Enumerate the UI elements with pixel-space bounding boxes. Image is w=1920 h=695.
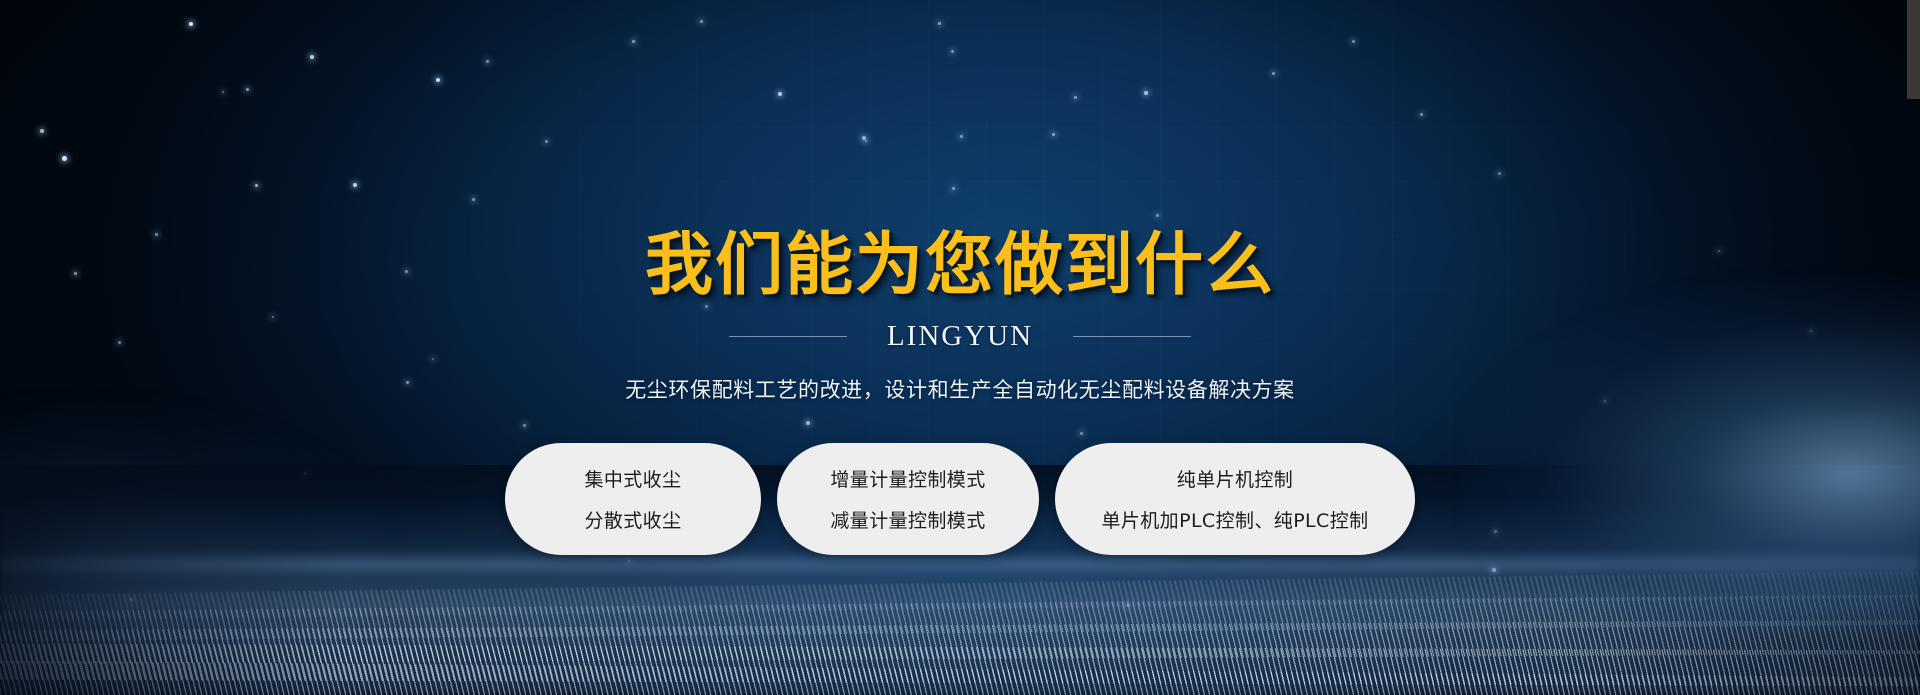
- scrollbar-track[interactable]: [1907, 0, 1920, 695]
- divider-line-left: [729, 336, 847, 337]
- banner-stage: 我们能为您做到什么 LINGYUN 无尘环保配料工艺的改进，设计和生产全自动化无…: [0, 0, 1920, 695]
- feature-pill-dust-collection[interactable]: 集中式收尘 分散式收尘: [505, 443, 761, 555]
- pill-line-2: 单片机加PLC控制、纯PLC控制: [1101, 506, 1368, 533]
- pill-line-2: 分散式收尘: [584, 506, 681, 533]
- feature-pill-control-system[interactable]: 纯单片机控制 单片机加PLC控制、纯PLC控制: [1055, 443, 1415, 555]
- banner-content: 我们能为您做到什么 LINGYUN 无尘环保配料工艺的改进，设计和生产全自动化无…: [0, 0, 1920, 695]
- pill-line-1: 增量计量控制模式: [830, 465, 985, 492]
- pill-line-2: 减量计量控制模式: [830, 506, 985, 533]
- scrollbar-thumb[interactable]: [1907, 0, 1920, 99]
- brand-subtitle-row: LINGYUN: [0, 320, 1920, 353]
- divider-line-right: [1073, 336, 1191, 337]
- feature-pill-group: 集中式收尘 分散式收尘 增量计量控制模式 减量计量控制模式 纯单片机控制 单片机…: [0, 443, 1920, 555]
- brand-name-en: LINGYUN: [887, 320, 1033, 353]
- feature-pill-weighing-mode[interactable]: 增量计量控制模式 减量计量控制模式: [777, 443, 1039, 555]
- page-title: 我们能为您做到什么: [0, 228, 1920, 304]
- banner-description: 无尘环保配料工艺的改进，设计和生产全自动化无尘配料设备解决方案: [0, 374, 1920, 404]
- pill-line-1: 纯单片机控制: [1177, 465, 1293, 492]
- pill-line-1: 集中式收尘: [584, 465, 681, 492]
